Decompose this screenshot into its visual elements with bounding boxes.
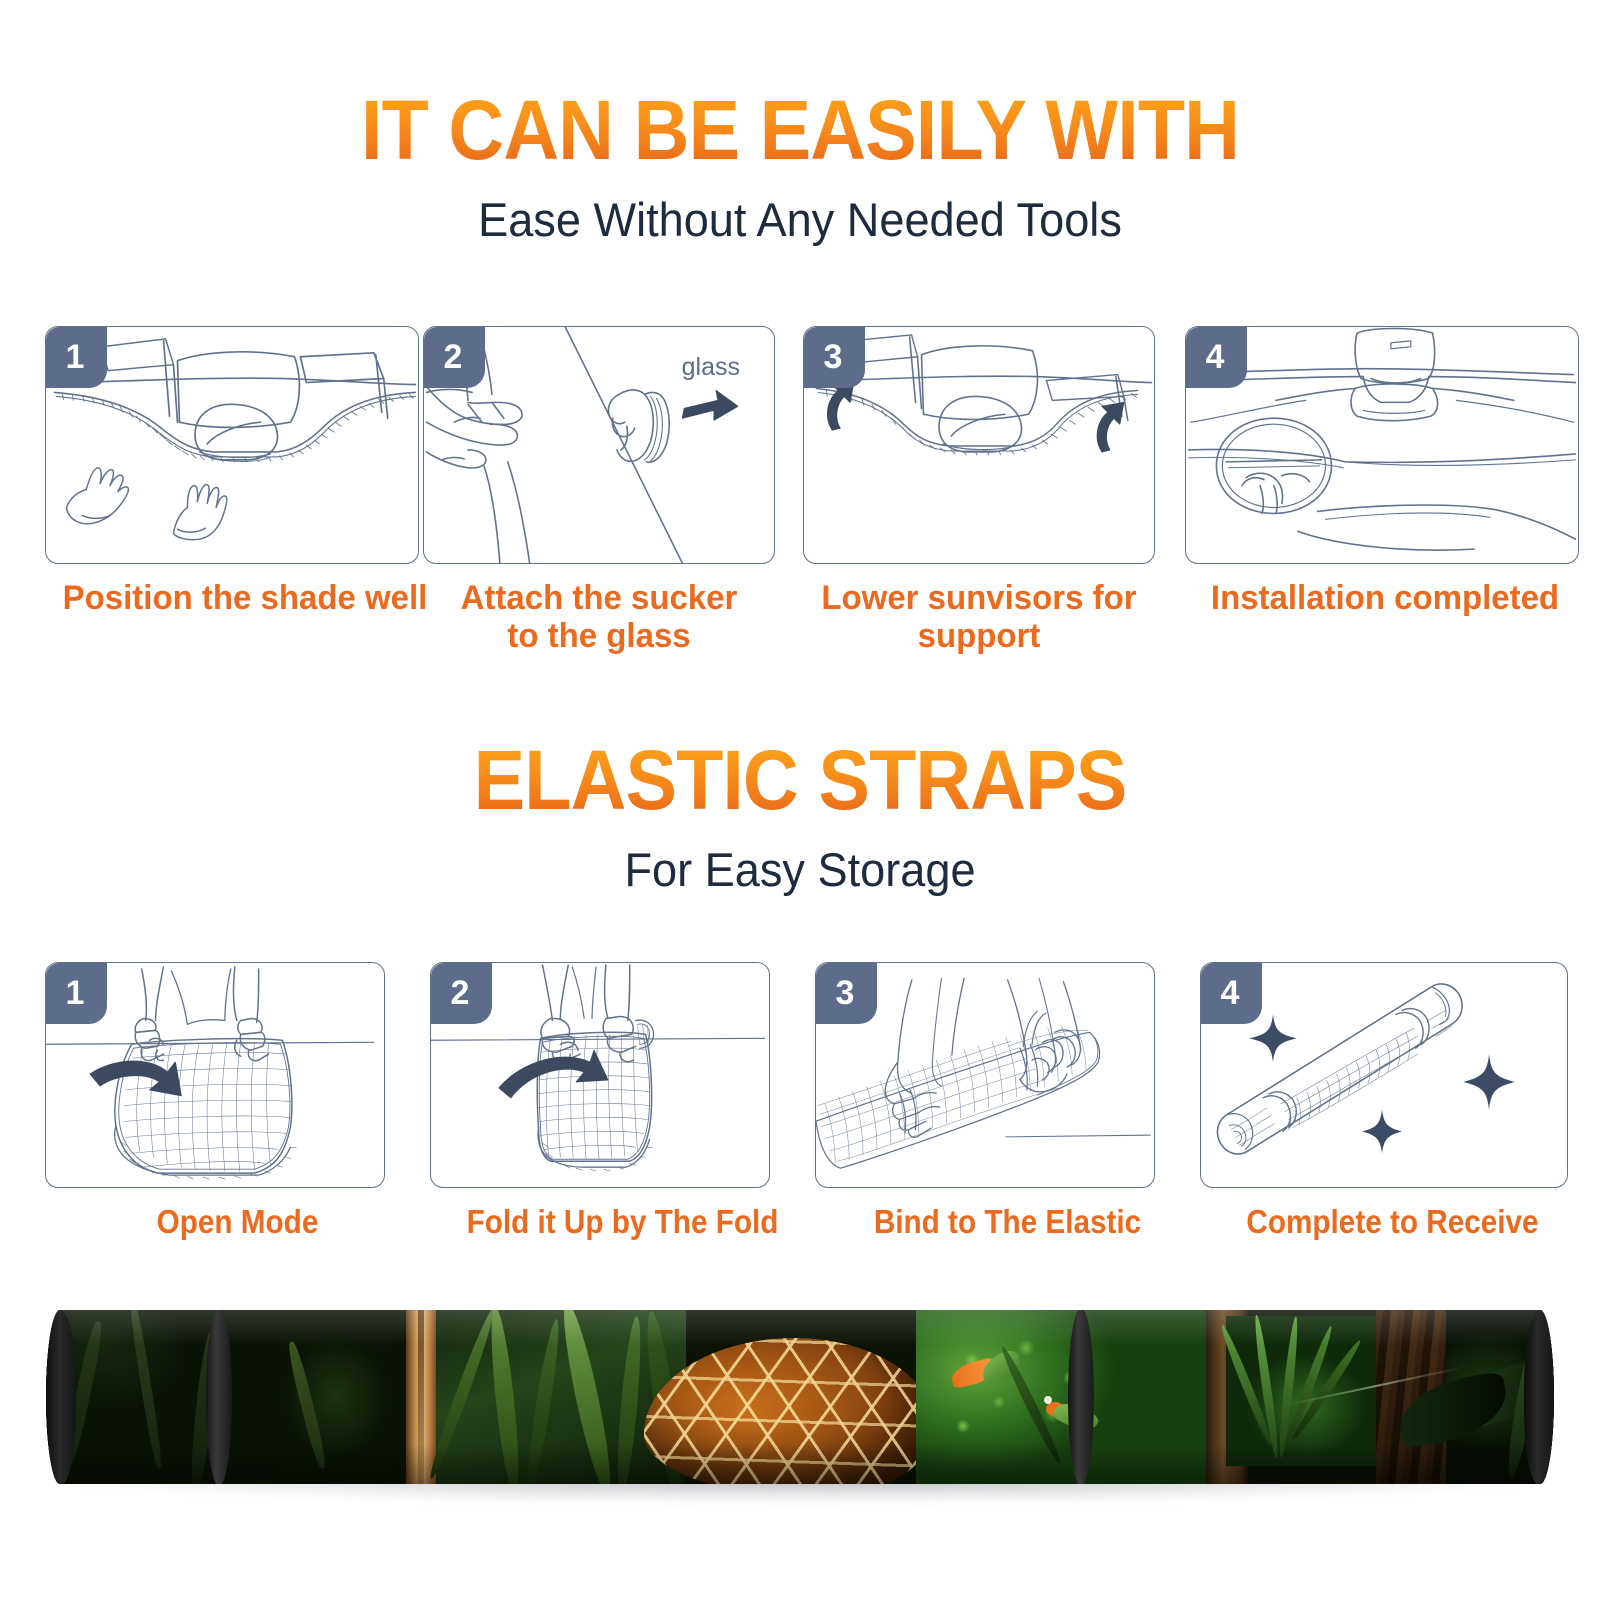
elastic-strap xyxy=(206,1310,232,1484)
storage-step-1: 1 xyxy=(45,962,430,1241)
storage-step-2: 2 xyxy=(430,962,815,1241)
storage-step-3-caption: Bind to The Elastic xyxy=(834,1204,1181,1241)
storage-step-3-card: 3 xyxy=(815,962,1155,1188)
storage-step-4-caption: Complete to Receive xyxy=(1219,1204,1566,1241)
install-step-2-caption: Attach the sucker to the glass xyxy=(428,579,769,655)
install-step-1-caption: Position the shade well xyxy=(51,579,439,617)
storage-step-2-caption: Fold it Up by The Fold xyxy=(449,1204,796,1241)
storage-step-2-card: 2 xyxy=(430,962,770,1188)
storage-step-4-card: 4 xyxy=(1200,962,1568,1188)
install-heading-title: IT CAN BE EASILY WITH xyxy=(64,88,1536,172)
glass-annotation-label: glass xyxy=(682,353,740,382)
elastic-strap xyxy=(1068,1310,1094,1484)
storage-step-1-card: 1 xyxy=(45,962,385,1188)
product-roll-photo xyxy=(0,1296,1600,1536)
step-number-badge: 1 xyxy=(46,327,107,388)
step-number-badge: 2 xyxy=(424,327,485,388)
step-number-badge: 4 xyxy=(1186,327,1247,388)
storage-step-4: 4 xyxy=(1200,962,1585,1241)
install-heading-subtitle: Ease Without Any Needed Tools xyxy=(32,192,1568,247)
install-steps-row: 1 xyxy=(0,326,1600,655)
install-step-4: 4 xyxy=(1185,326,1585,655)
roll-end-cap-left xyxy=(46,1310,76,1484)
install-step-1: 1 xyxy=(45,326,445,655)
install-step-1-card: 1 xyxy=(45,326,419,564)
storage-section-heading: ELASTIC STRAPS For Easy Storage xyxy=(0,738,1600,897)
jungle-print-graphic xyxy=(46,1310,1554,1484)
storage-steps-row: 1 xyxy=(0,962,1600,1241)
storage-heading-subtitle: For Easy Storage xyxy=(32,842,1568,897)
install-step-4-card: 4 xyxy=(1185,326,1579,564)
step-number-badge: 2 xyxy=(431,963,492,1024)
rolled-jungle-sunshade xyxy=(46,1310,1554,1484)
storage-step-1-caption: Open Mode xyxy=(64,1204,411,1241)
install-section-heading: IT CAN BE EASILY WITH Ease Without Any N… xyxy=(0,88,1600,247)
install-step-3-caption: Lower sunvisors for support xyxy=(808,579,1149,655)
install-step-3-card: 3 xyxy=(803,326,1155,564)
step-number-badge: 3 xyxy=(804,327,865,388)
install-step-3: 3 xyxy=(803,326,1203,655)
step-number-badge: 4 xyxy=(1201,963,1262,1024)
storage-heading-title: ELASTIC STRAPS xyxy=(64,738,1536,822)
install-step-2-card: 2 xyxy=(423,326,775,564)
step-number-badge: 3 xyxy=(816,963,877,1024)
roll-end-cap-right xyxy=(1524,1310,1554,1484)
step-number-badge: 1 xyxy=(46,963,107,1024)
storage-step-3: 3 xyxy=(815,962,1200,1241)
install-step-4-caption: Installation completed xyxy=(1191,579,1579,617)
install-step-2: 2 xyxy=(423,326,823,655)
